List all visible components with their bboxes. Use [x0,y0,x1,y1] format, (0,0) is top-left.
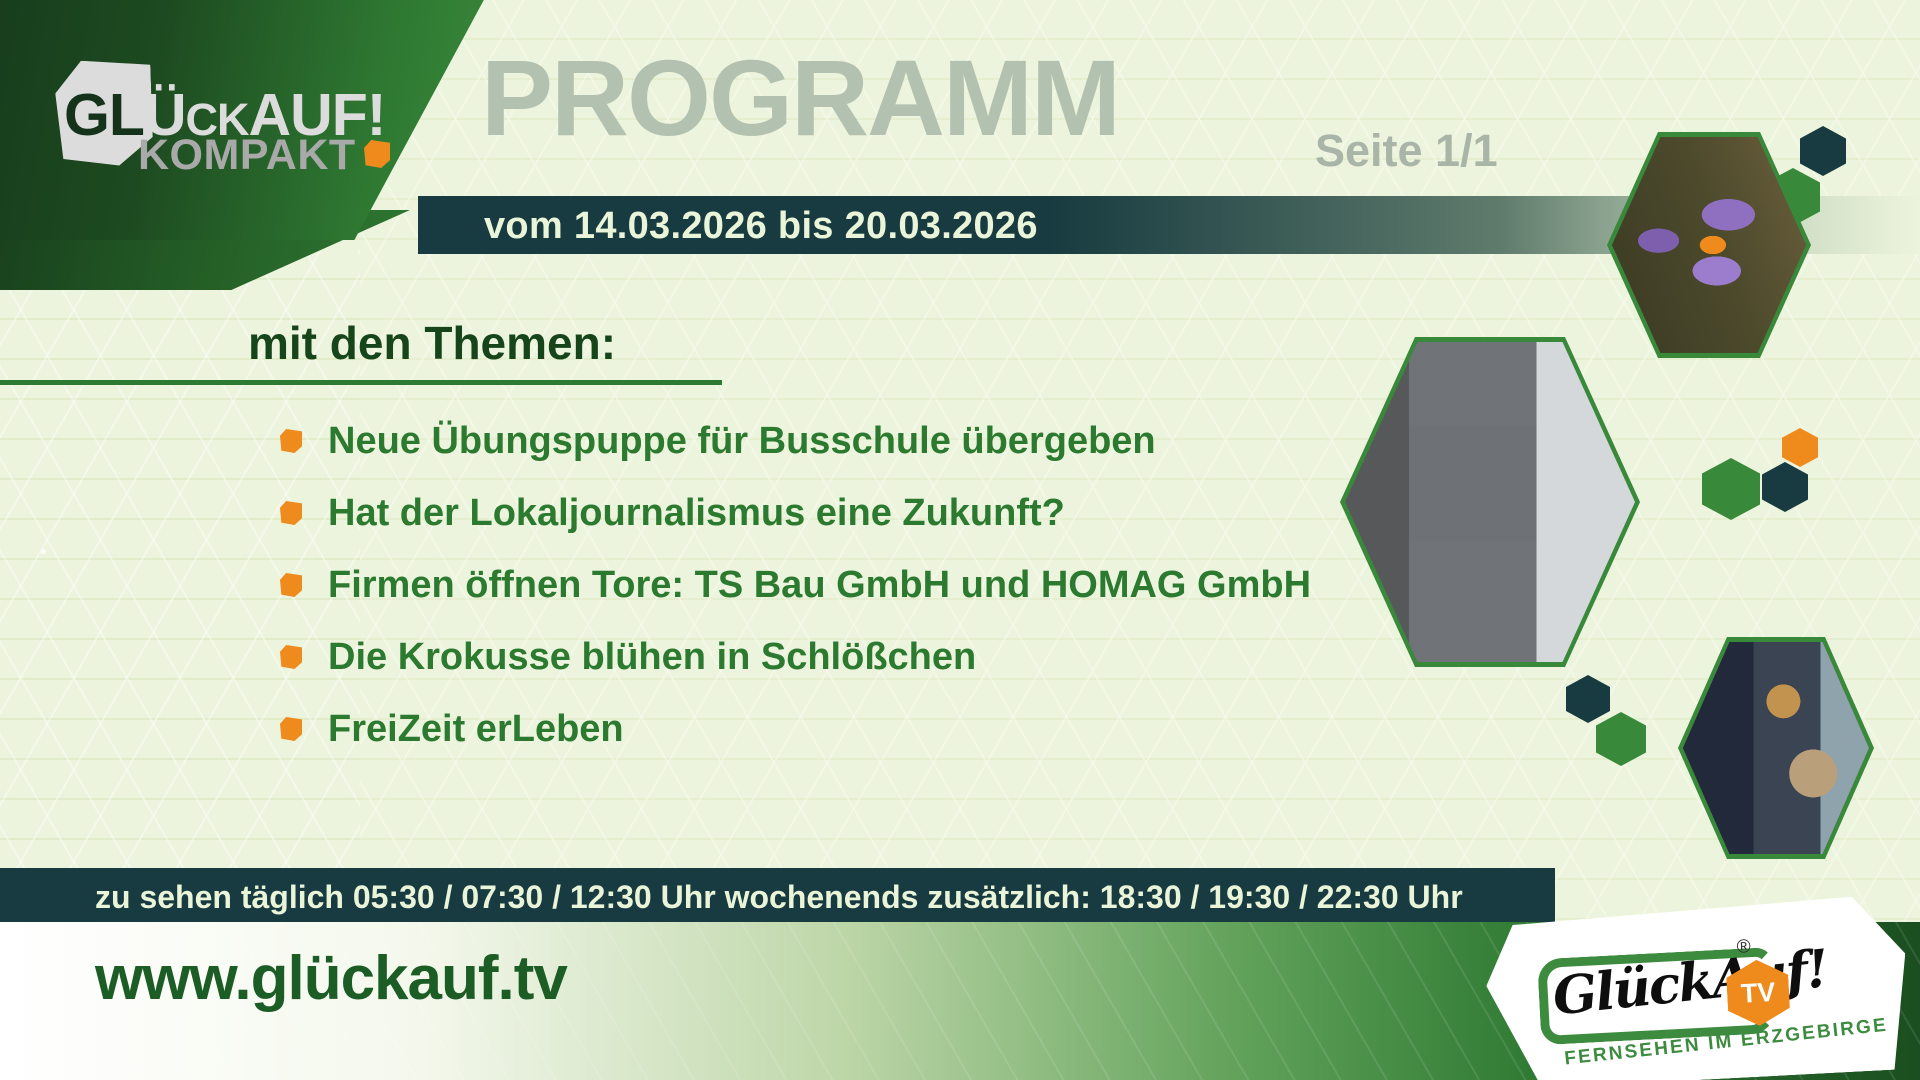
list-item: Neue Übungspuppe für Busschule übergeben [280,405,1380,477]
topic-label: Neue Übungspuppe für Busschule übergeben [328,422,1156,460]
list-item: Hat der Lokaljournalismus eine Zukunft? [280,477,1380,549]
hexagon-bullet-icon [280,429,302,453]
page-title: PROGRAMM [481,44,1119,152]
topics-heading: mit den Themen: [248,320,616,366]
topics-list: Neue Übungspuppe für Busschule übergeben… [280,405,1380,765]
hexagon-bullet-icon [280,717,302,741]
website-url[interactable]: www.glückauf.tv [95,948,567,1010]
topics-heading-underline [0,380,722,385]
orange-hexagon-dot-icon [364,140,390,168]
topic-label: Die Krokusse blühen in Schlößchen [328,638,976,676]
brand-logo-gl: GL [64,82,144,148]
hexagon-bullet-icon [280,573,302,597]
list-item: Die Krokusse blühen in Schlößchen [280,621,1380,693]
date-range-text: vom 14.03.2026 bis 20.03.2026 [484,204,1038,250]
glueckauf-kompakt-logo: GLÜCKAUF! KOMPAKT [48,42,408,192]
registered-trademark-icon: ® [1736,936,1751,959]
list-item: Firmen öffnen Tore: TS Bau GmbH und HOMA… [280,549,1380,621]
programm-poster: GLÜCKAUF! KOMPAKT PROGRAMM Seite 1/1 vom… [0,0,1920,1080]
schedule-text: zu sehen täglich 05:30 / 07:30 / 12:30 U… [95,876,1463,919]
topic-label: Hat der Lokaljournalismus eine Zukunft? [328,494,1065,532]
topic-label: Firmen öffnen Tore: TS Bau GmbH und HOMA… [328,566,1311,604]
page-indicator: Seite 1/1 [1315,128,1498,173]
topic-label: FreiZeit erLeben [328,710,624,748]
photo-youth-image [1683,642,1869,854]
brand-logo-kompakt: KOMPAKT [138,134,356,177]
hexagon-bullet-icon [280,645,302,669]
list-item: FreiZeit erLeben [280,693,1380,765]
hexagon-bullet-icon [280,501,302,525]
